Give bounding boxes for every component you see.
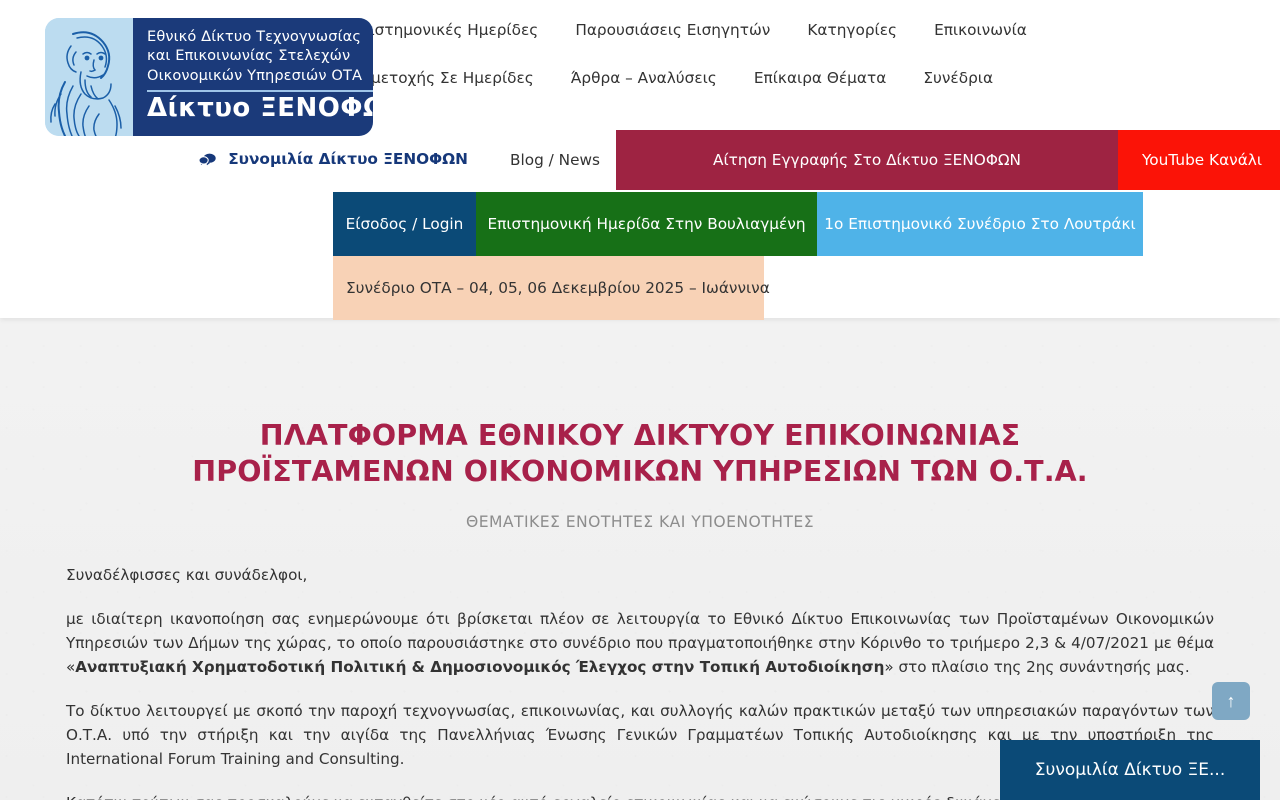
paragraph-intro-bold: Αναπτυξιακή Χρηματοδοτική Πολιτική & Δημ… [75,658,884,676]
imerida-vouliagmeni-button[interactable]: Επιστημονική Ημερίδα Στην Βουλιαγμένη [476,192,817,256]
nav-row-5: Συνέδριο ΟΤΑ – 04, 05, 06 Δεκεμβρίου 202… [333,256,764,320]
nav-row-3: Συνομιλία Δίκτυο ΞΕΝΟΦΩΝ Blog / News Αίτ… [0,130,1280,190]
nav-item-arthra-analyseis[interactable]: Άρθρα – Αναλύσεις [571,67,717,89]
nav-item-imerides[interactable]: Επιστημονικές Ημερίδες [351,19,539,41]
nav-item-epikoinonia[interactable]: Επικοινωνία [934,19,1027,41]
logo-text-panel: Εθνικό Δίκτυο Τεχνογνωσίας και Επικοινων… [133,18,373,136]
login-button[interactable]: Είσοδος / Login [333,192,476,256]
nav-item-parousiaseis[interactable]: Παρουσιάσεις Εισηγητών [575,19,770,41]
youtube-channel-label: YouTube Κανάλι [1142,151,1262,169]
paragraph-intro-part2: » στο πλαίσιο της 2ης συνάντησής μας. [884,658,1189,676]
site-logo[interactable]: Εθνικό Δίκτυο Τεχνογνωσίας και Επικοινων… [45,18,373,136]
site-header: Αρχική Επιστημονικές Ημερίδες Παρουσιάσε… [0,0,1280,318]
nav-row-3-links: Συνομιλία Δίκτυο ΞΕΝΟΦΩΝ Blog / News [183,148,616,172]
logo-line-2: και Επικοινωνίας Στελεχών [147,46,373,65]
scroll-to-top-button[interactable]: ↑ [1212,682,1250,720]
chat-widget-button[interactable]: Συνομιλία Δίκτυο ΞΕ... [1000,740,1260,800]
youtube-channel-button[interactable]: YouTube Κανάλι [1118,130,1280,190]
page-subtitle: ΘΕΜΑΤΙΚΕΣ ΕΝΟΤΗΤΕΣ ΚΑΙ ΥΠΟΕΝΟΤΗΤΕΣ [0,513,1280,531]
page-title: ΠΛΑΤΦΟΡΜΑ ΕΘΝΙΚΟΥ ΔΙΚΤΥΟΥ ΕΠΙΚΟΙΝΩΝΙΑΣ Π… [0,318,1280,491]
chat-link[interactable]: Συνομιλία Δίκτυο ΞΕΝΟΦΩΝ [199,148,468,172]
nav-item-katigories[interactable]: Κατηγορίες [807,19,897,41]
nav-item-synedria[interactable]: Συνέδρια [923,67,993,89]
chat-link-label: Συνομιλία Δίκτυο ΞΕΝΟΦΩΝ [228,150,468,168]
paragraph-greeting: Συναδέλφισσες και συνάδελφοι, [66,563,1214,587]
register-button[interactable]: Αίτηση Εγγραφής Στο Δίκτυο ΞΕΝΟΦΩΝ [616,130,1118,190]
logo-line-1: Εθνικό Δίκτυο Τεχνογνωσίας [147,27,373,46]
arrow-up-icon: ↑ [1227,691,1236,711]
nav-row-4: Είσοδος / Login Επιστημονική Ημερίδα Στη… [333,192,1143,256]
nav-item-epikaira-themata[interactable]: Επίκαιρα Θέματα [754,67,886,89]
logo-line-3: Οικονομικών Υπηρεσιών ΟΤΑ [147,66,373,85]
speech-bubbles-icon [199,152,221,170]
nav-item-blog-news[interactable]: Blog / News [510,149,600,171]
paragraph-intro: με ιδιαίτερη ικανοποίηση σας ενημερώνουμ… [66,607,1214,679]
synedrio-ota-ioannina-button[interactable]: Συνέδριο ΟΤΑ – 04, 05, 06 Δεκεμβρίου 202… [333,256,764,320]
logo-brand: Δίκτυο ΞΕΝΟΦΩΝ [147,94,373,123]
main-content: ΠΛΑΤΦΟΡΜΑ ΕΘΝΙΚΟΥ ΔΙΚΤΥΟΥ ΕΠΙΚΟΙΝΩΝΙΑΣ Π… [0,318,1280,800]
xenophon-bust-icon [45,18,133,136]
chat-widget-label: Συνομιλία Δίκτυο ΞΕ... [1035,760,1225,780]
synedrio-loutraki-button[interactable]: 1ο Επιστημονικό Συνέδριο Στο Λουτράκι [817,192,1143,256]
logo-divider [147,90,373,92]
